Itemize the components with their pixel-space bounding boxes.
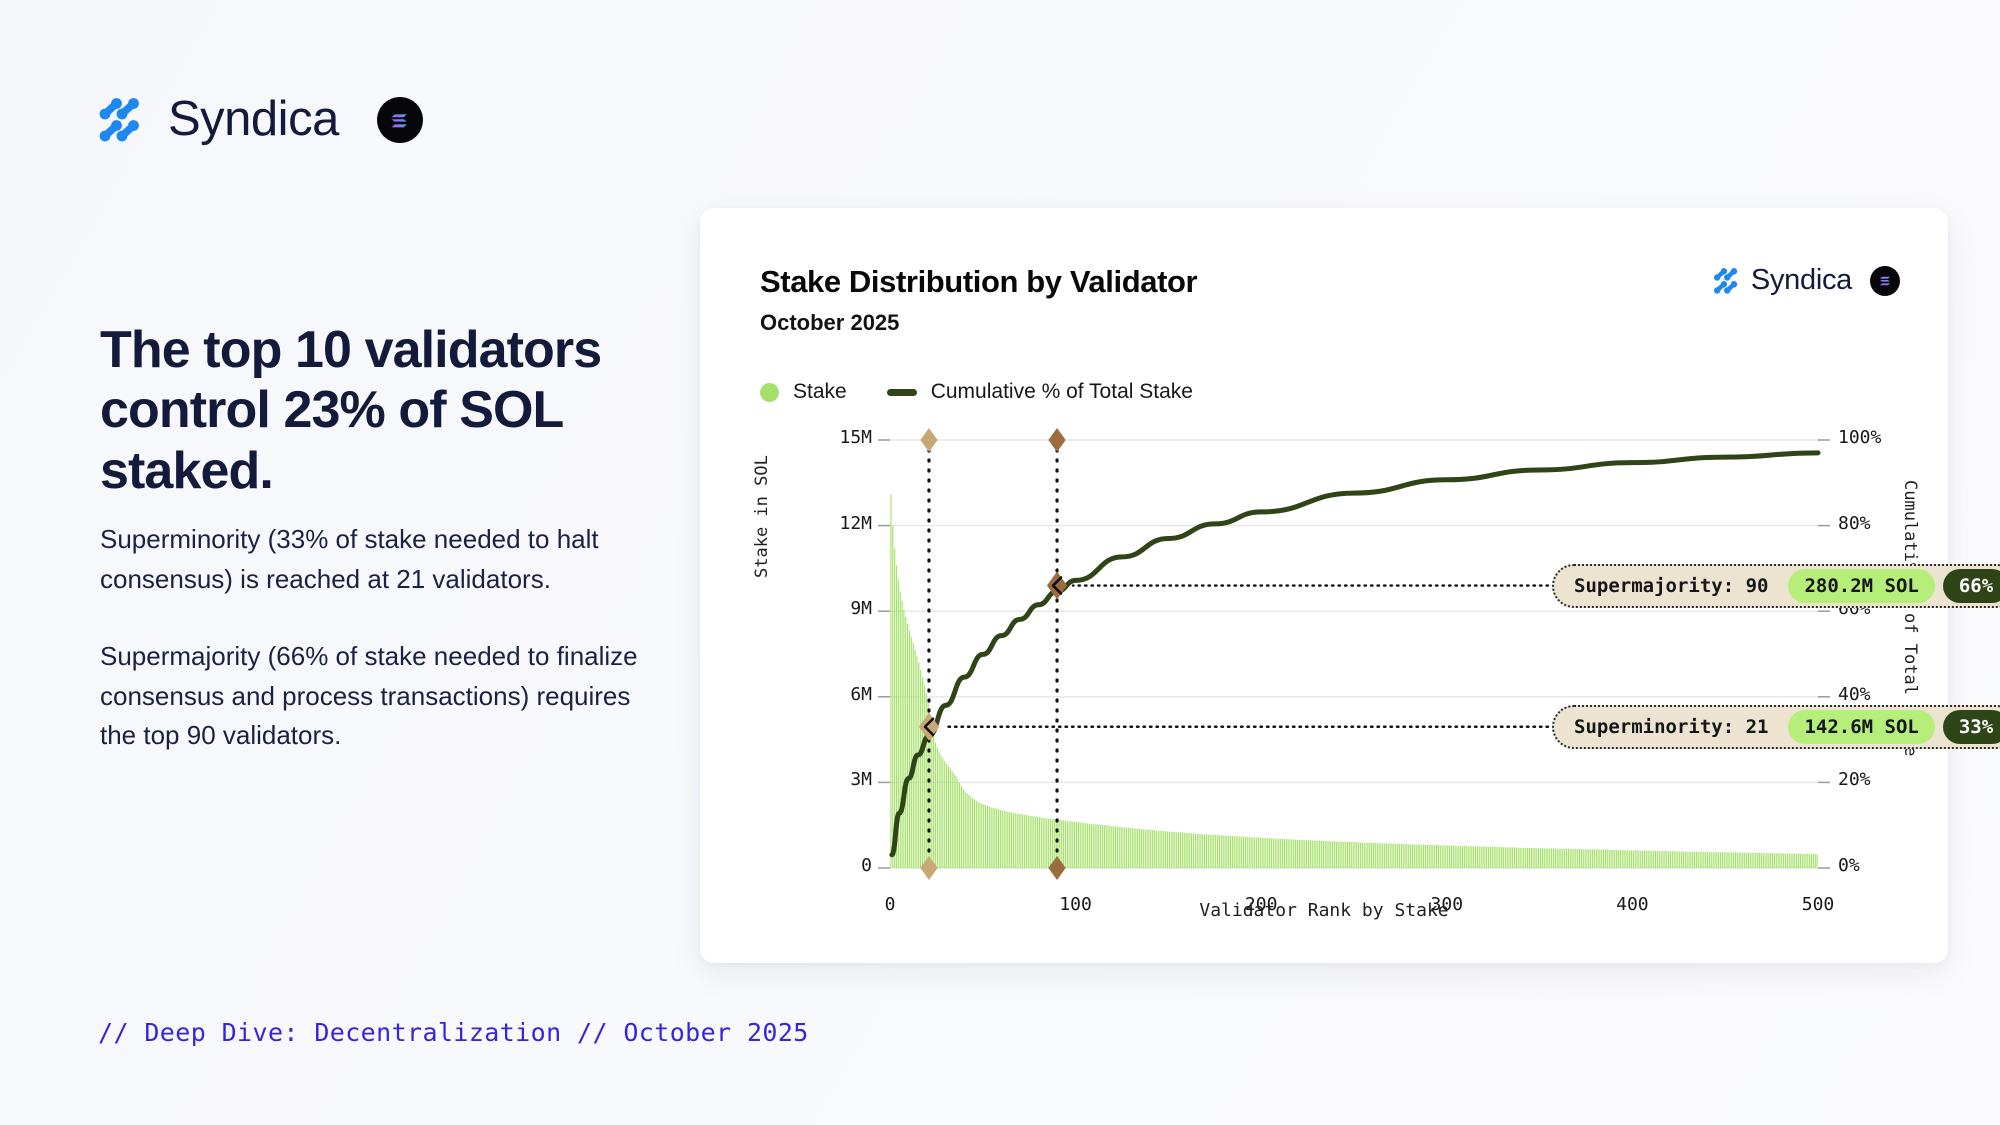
chart-card: Stake Distribution by Validator October … — [700, 208, 1948, 963]
y2-tick-label: 80% — [1838, 513, 1918, 534]
annotation-value: 280.2M SOL — [1788, 569, 1934, 603]
x-tick-label: 500 — [1773, 894, 1863, 915]
y2-tick-label: 0% — [1838, 855, 1918, 876]
y-tick-label: 15M — [780, 427, 872, 448]
y-tick-label: 3M — [780, 769, 872, 790]
annotation-percent: 33% — [1943, 710, 2000, 744]
annotation-supermajority[interactable]: Supermajority: 90 280.2M SOL 66% — [1552, 564, 2000, 608]
annotation-value: 142.6M SOL — [1788, 710, 1934, 744]
brand-name: Syndica — [168, 95, 339, 144]
slide-canvas: Syndica The top 10 validators control 23 — [0, 0, 2000, 1125]
page-title: The top 10 validators control 23% of SOL… — [100, 320, 720, 501]
y2-tick-label: 20% — [1838, 769, 1918, 790]
paragraph-superminority: Superminority (33% of stake needed to ha… — [100, 520, 660, 599]
annotation-label: Superminority: 21 — [1574, 716, 1788, 738]
x-tick-label: 100 — [1031, 894, 1121, 915]
footer-note: // Deep Dive: Decentralization // Octobe… — [98, 1018, 809, 1047]
paragraph-supermajority: Supermajority (66% of stake needed to fi… — [100, 637, 660, 756]
y2-tick-label: 40% — [1838, 684, 1918, 705]
y-tick-label: 12M — [780, 513, 872, 534]
solana-logo-icon — [377, 97, 423, 143]
x-tick-label: 400 — [1587, 894, 1677, 915]
x-tick-label: 200 — [1216, 894, 1306, 915]
x-tick-label: 0 — [845, 894, 935, 915]
y2-tick-label: 100% — [1838, 427, 1918, 448]
y-tick-label: 0 — [780, 855, 872, 876]
y-tick-label: 6M — [780, 684, 872, 705]
body-copy: Superminority (33% of stake needed to ha… — [100, 520, 660, 794]
brand-lockup: Syndica — [98, 95, 423, 144]
y-tick-label: 9M — [780, 598, 872, 619]
annotation-superminority[interactable]: Superminority: 21 142.6M SOL 33% — [1552, 705, 2000, 749]
x-tick-label: 300 — [1402, 894, 1492, 915]
annotation-label: Supermajority: 90 — [1574, 575, 1788, 597]
plot-area: Stake in SOL Cumulative % of Total Stake… — [700, 208, 1948, 963]
syndica-logo-icon — [98, 98, 142, 142]
annotation-percent: 66% — [1943, 569, 2000, 603]
